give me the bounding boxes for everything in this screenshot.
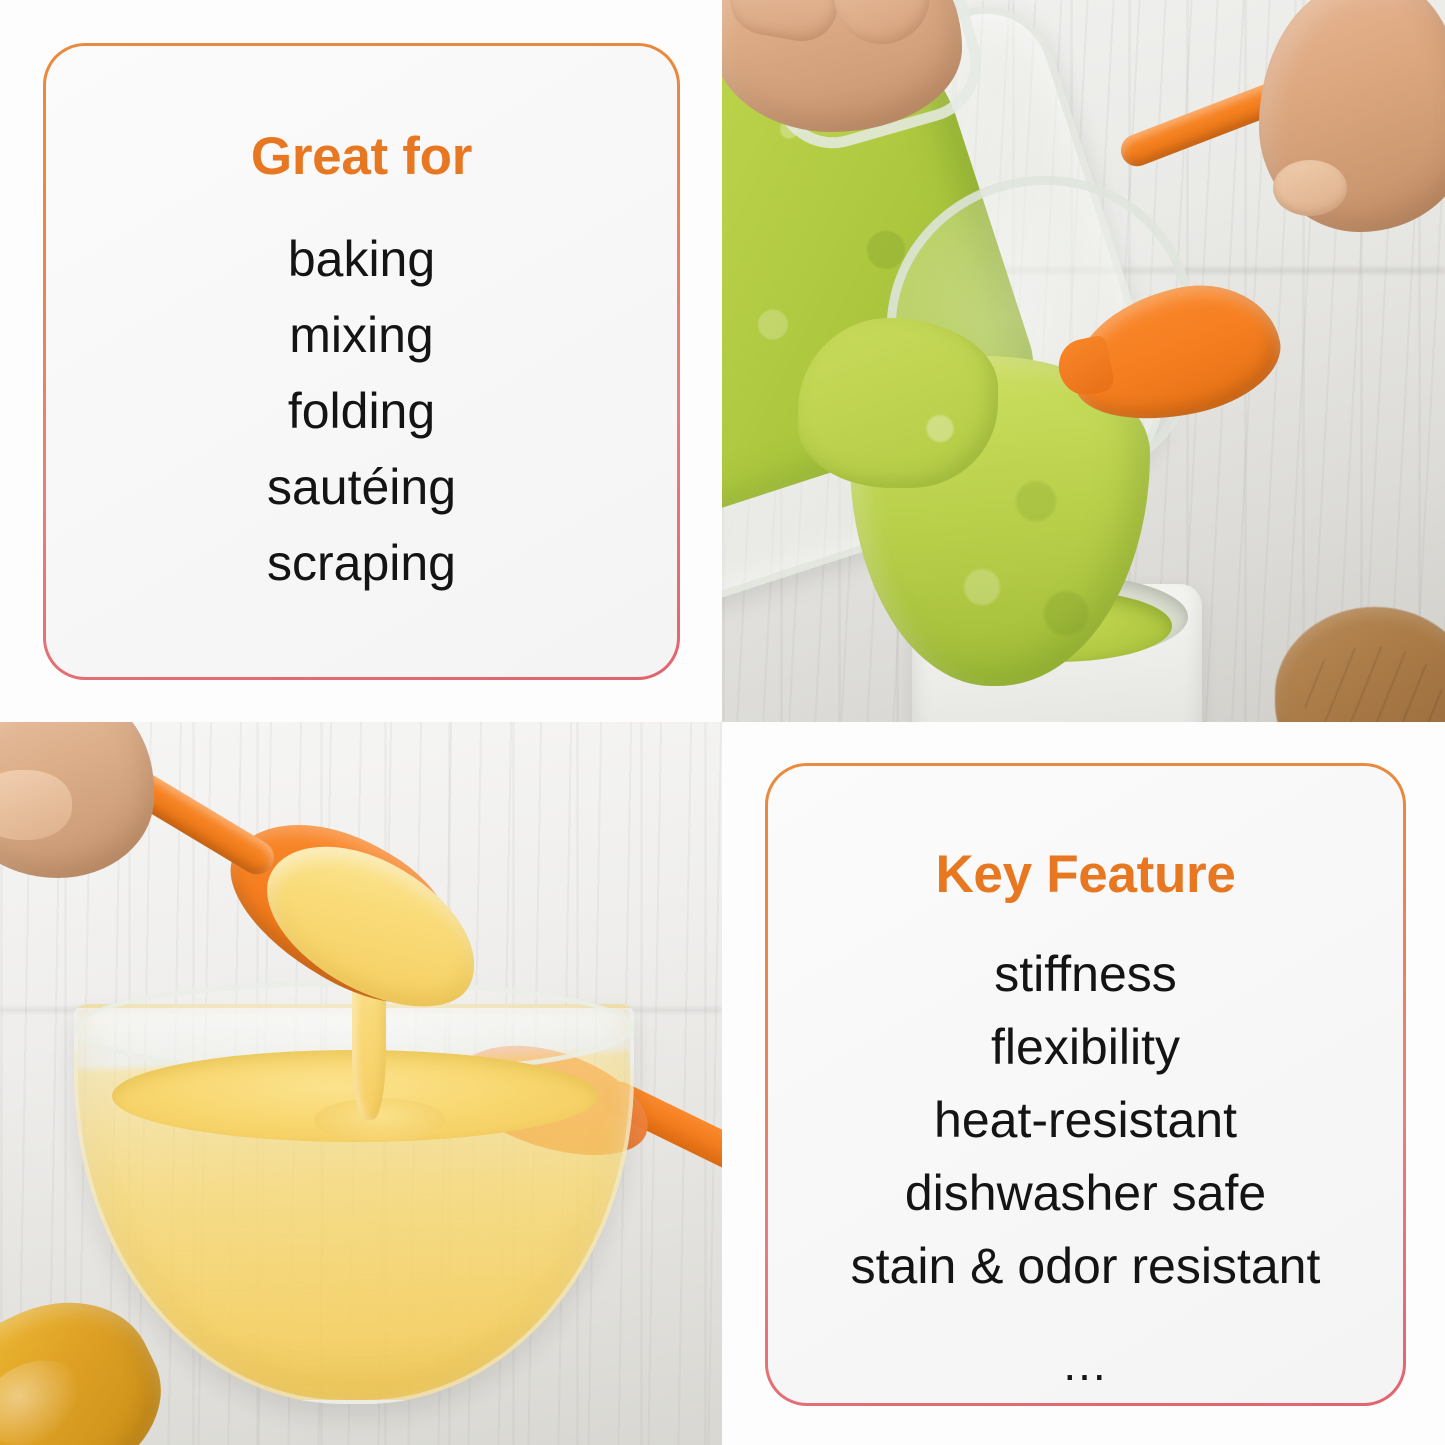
- great-for-ellipsis: ...: [46, 647, 677, 677]
- key-feature-card-inner: Key Feature stiffness flexibility heat-r…: [768, 766, 1403, 1403]
- list-item: dishwasher safe: [768, 1168, 1403, 1218]
- list-item: stiffness: [768, 949, 1403, 999]
- finger: [829, 0, 935, 49]
- list-item: folding: [46, 386, 677, 436]
- key-feature-ellipsis: ...: [768, 1341, 1403, 1387]
- key-feature-title: Key Feature: [768, 844, 1403, 905]
- great-for-list: baking mixing folding sautéing scraping: [46, 234, 677, 614]
- list-item: mixing: [46, 310, 677, 360]
- great-for-card-inner: Great for baking mixing folding sautéing…: [46, 46, 677, 677]
- great-for-card: Great for baking mixing folding sautéing…: [43, 43, 680, 680]
- list-item: scraping: [46, 538, 677, 588]
- key-feature-list: stiffness flexibility heat-resistant dis…: [768, 949, 1403, 1314]
- finger: [725, 0, 844, 47]
- hand-holding-spatula: [1259, 0, 1445, 232]
- list-item: sautéing: [46, 462, 677, 512]
- custard-bowl-photo: [0, 722, 722, 1445]
- list-item: heat-resistant: [768, 1095, 1403, 1145]
- quadrant-top-right: [722, 0, 1445, 722]
- avocado-pour-photo: [722, 0, 1445, 722]
- quadrant-top-left: Great for baking mixing folding sautéing…: [0, 0, 722, 722]
- key-feature-card: Key Feature stiffness flexibility heat-r…: [765, 763, 1406, 1406]
- list-item: stain & odor resistant: [768, 1241, 1403, 1291]
- quadrant-bottom-left: [0, 722, 722, 1445]
- list-item: flexibility: [768, 1022, 1403, 1072]
- great-for-title: Great for: [46, 126, 677, 187]
- infographic-canvas: Great for baking mixing folding sautéing…: [0, 0, 1445, 1445]
- quadrant-bottom-right: Key Feature stiffness flexibility heat-r…: [722, 722, 1445, 1445]
- list-item: baking: [46, 234, 677, 284]
